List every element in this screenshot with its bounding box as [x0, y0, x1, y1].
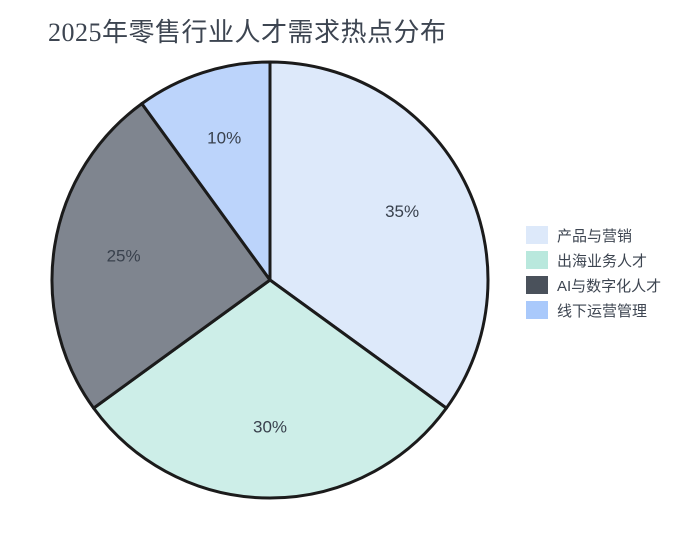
- pie-slice-value-label: 35%: [385, 202, 419, 221]
- legend-swatch-produce-marketing: [526, 226, 548, 244]
- pie-slice-value-label: 25%: [107, 246, 141, 265]
- legend-item-0[interactable]: 产品与营销: [526, 224, 661, 246]
- legend-label-1: 出海业务人才: [557, 250, 647, 271]
- pie-slice-value-label: 10%: [207, 128, 241, 147]
- legend-swatch-ai-digital-talent: [526, 276, 548, 294]
- legend-item-3[interactable]: 线下运营管理: [526, 299, 661, 321]
- legend-label-2: AI与数字化人才: [557, 275, 661, 296]
- legend-label-3: 线下运营管理: [557, 300, 647, 321]
- pie-chart-figure: 2025年零售行业人才需求热点分布 35%30%25%10% 产品与营销 出海业…: [0, 0, 696, 540]
- chart-legend: 产品与营销 出海业务人才 AI与数字化人才 线下运营管理: [526, 224, 661, 321]
- legend-swatch-offline-operations: [526, 301, 548, 319]
- legend-swatch-overseas-talent: [526, 251, 548, 269]
- legend-item-2[interactable]: AI与数字化人才: [526, 274, 661, 296]
- legend-label-0: 产品与营销: [557, 225, 632, 246]
- legend-item-1[interactable]: 出海业务人才: [526, 249, 661, 271]
- pie-slice-value-label: 30%: [253, 418, 287, 437]
